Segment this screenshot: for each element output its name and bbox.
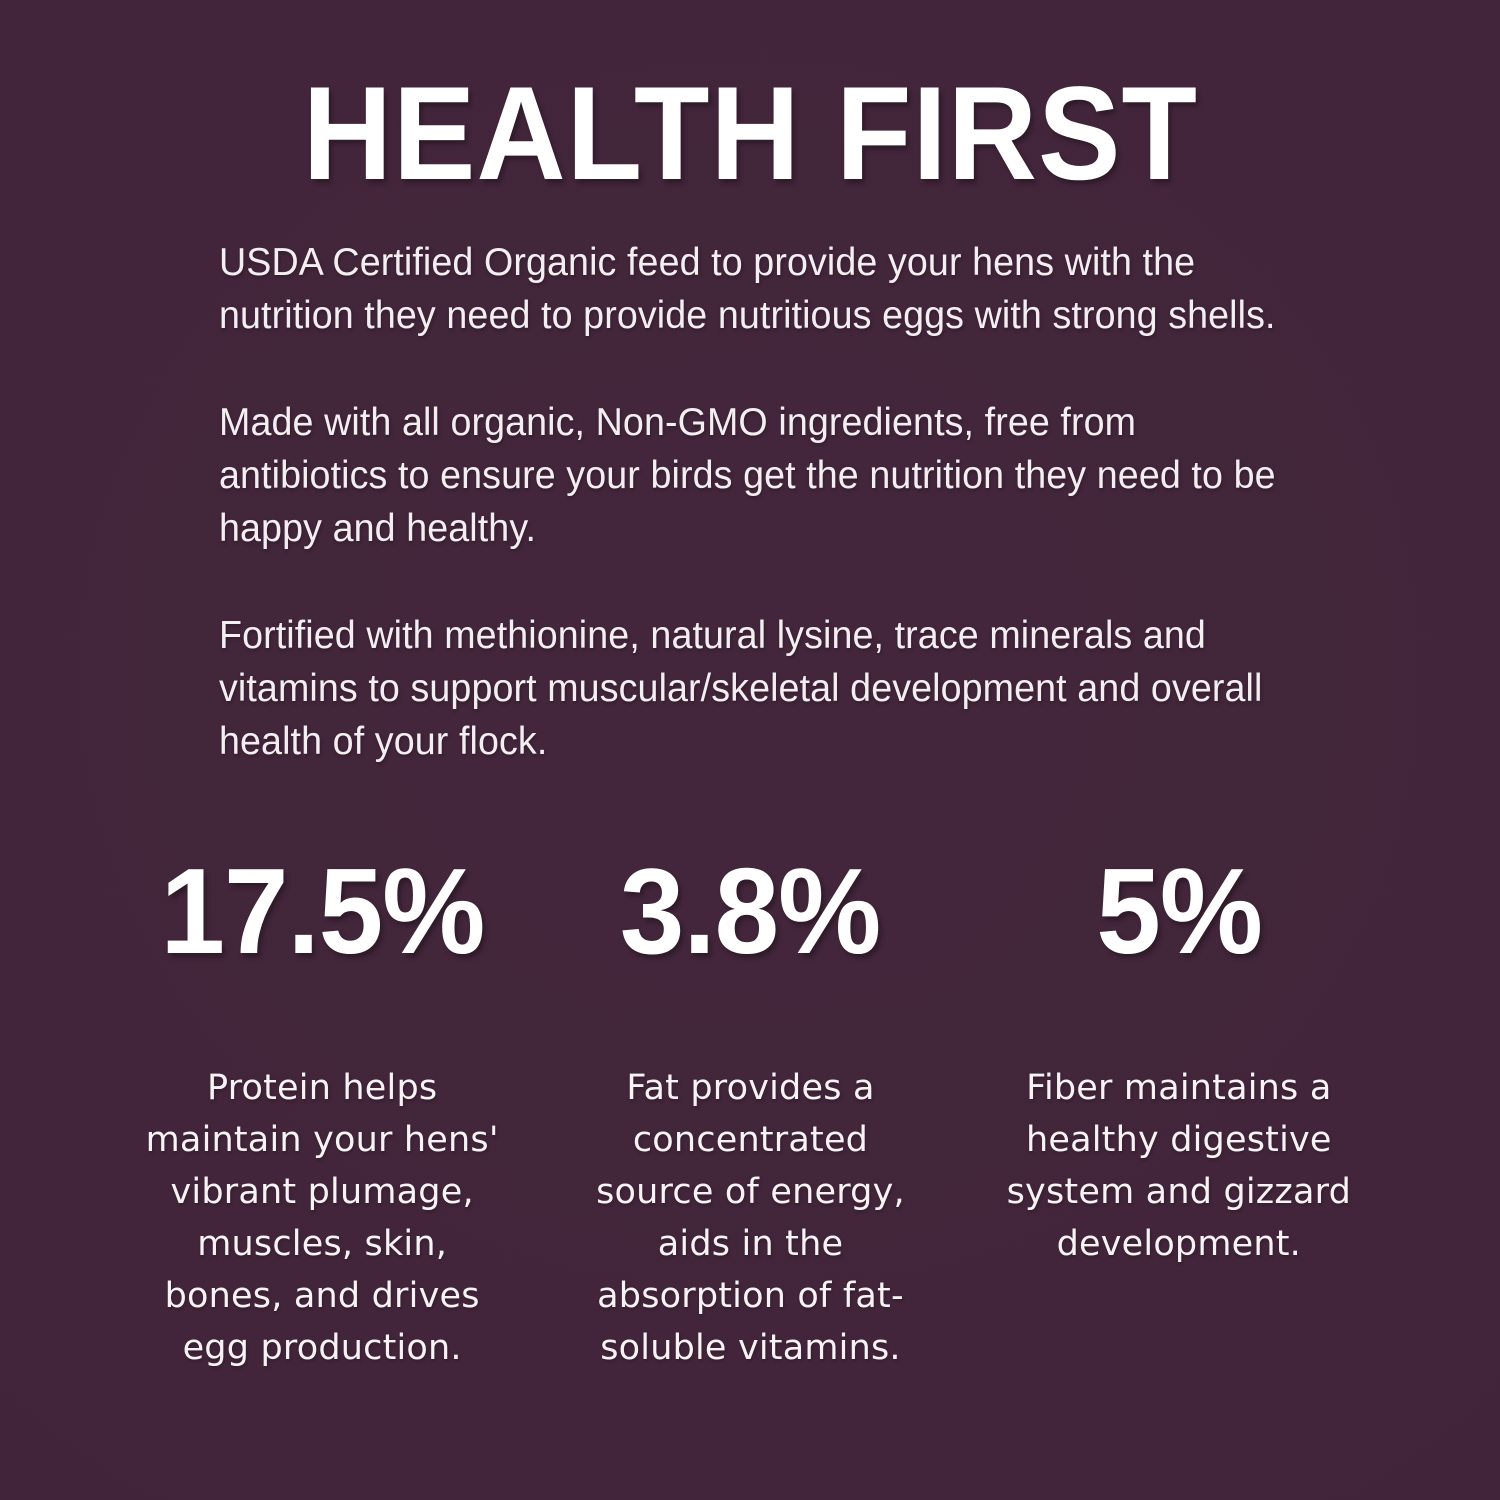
description-column-fiber: Fiber maintains a healthy digestive syst… — [965, 1062, 1393, 1270]
stat-column-fiber: 5% — [965, 855, 1393, 967]
stat-value-fiber: 5% — [1096, 855, 1262, 967]
stat-value-fat: 3.8% — [620, 855, 880, 967]
description-text-fat: Fat provides a concentrated source of en… — [585, 1062, 915, 1374]
stat-value-protein: 17.5% — [160, 855, 484, 967]
page-title: HEALTH FIRST — [302, 68, 1197, 201]
description-text-fiber: Fiber maintains a healthy digestive syst… — [989, 1062, 1369, 1270]
body-paragraph-1: USDA Certified Organic feed to provide y… — [219, 236, 1300, 342]
description-text-protein: Protein helps maintain your hens' vibran… — [142, 1062, 502, 1374]
description-column-fat: Fat provides a concentrated source of en… — [536, 1062, 964, 1374]
health-first-panel: HEALTH FIRST USDA Certified Organic feed… — [0, 0, 1500, 1500]
description-column-protein: Protein helps maintain your hens' vibran… — [108, 1062, 536, 1374]
body-paragraph-2: Made with all organic, Non-GMO ingredien… — [219, 396, 1300, 555]
stat-column-fat: 3.8% — [536, 855, 964, 967]
body-paragraph-3: Fortified with methionine, natural lysin… — [219, 609, 1300, 768]
page-title-container: HEALTH FIRST — [0, 68, 1500, 201]
body-copy-block: USDA Certified Organic feed to provide y… — [219, 236, 1339, 768]
stat-column-protein: 17.5% — [108, 855, 536, 967]
nutrition-descriptions-row: Protein helps maintain your hens' vibran… — [108, 1062, 1393, 1374]
nutrition-stats-row: 17.5% 3.8% 5% — [108, 855, 1393, 967]
